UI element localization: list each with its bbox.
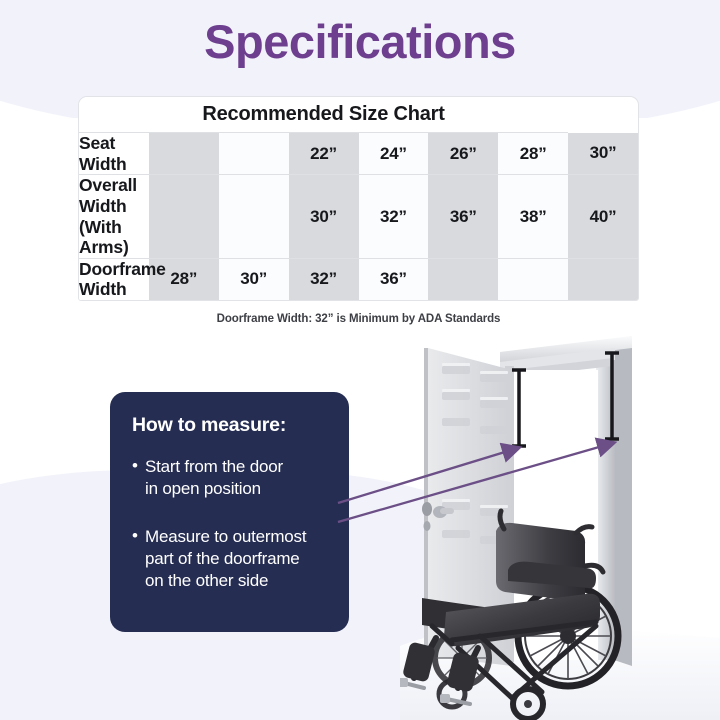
cell-overall-width-7: 40” (568, 175, 638, 259)
cell-overall-width-2 (219, 175, 289, 259)
row-label-doorframe-width-line1: Doorframe (79, 259, 149, 280)
cell-overall-width-3: 30” (289, 175, 359, 259)
size-chart-footnote: Doorframe Width: 32” is Minimum by ADA S… (78, 313, 639, 325)
row-label-doorframe-width-line2: Width (79, 279, 149, 300)
row-label-doorframe-width: Doorframe Width (79, 258, 149, 300)
table-header-row: Recommended Size Chart (79, 97, 638, 133)
cell-doorframe-width-4: 36” (359, 258, 429, 300)
cell-seat-width-1 (149, 133, 219, 175)
cell-overall-width-4: 32” (359, 175, 429, 259)
cell-doorframe-width-2: 30” (219, 258, 289, 300)
cell-overall-width-6: 38” (498, 175, 568, 259)
bullet-icon: • (132, 525, 138, 547)
row-label-overall-width: Overall Width (With Arms) (79, 175, 149, 259)
cell-seat-width-2 (219, 133, 289, 175)
row-label-overall-width-line1: Overall Width (79, 175, 149, 216)
callout-bullet-2-line2: part of the doorframe (145, 548, 329, 570)
callout-bullet-1-line1: Start from the door (145, 456, 329, 478)
illustration-wheelchair-doorway (400, 326, 720, 720)
callout-bullet-2-line3: on the other side (145, 570, 329, 592)
doorway-scene-svg (400, 326, 720, 720)
size-chart-card: Recommended Size Chart Seat Width 22” 24… (78, 96, 639, 301)
callout-bullet-1: • Start from the door in open position (132, 456, 329, 500)
cell-seat-width-3: 22” (289, 133, 359, 175)
table-row-doorframe-width: Doorframe Width 28” 30” 32” 36” (79, 258, 638, 300)
callout-heading: How to measure: (132, 414, 329, 437)
callout-bullet-2: • Measure to outermost part of the doorf… (132, 526, 329, 592)
screenshot-root: Specifications Recommended Size Chart Se… (0, 0, 720, 720)
page-title: Specifications (0, 14, 720, 69)
row-label-seat-width: Seat Width (79, 133, 149, 175)
cell-overall-width-5: 36” (428, 175, 498, 259)
cell-seat-width-6: 28” (498, 133, 568, 175)
backrest (496, 523, 585, 601)
size-chart-caption: Recommended Size Chart (79, 97, 568, 133)
cell-doorframe-width-7 (568, 258, 638, 300)
how-to-measure-callout: How to measure: • Start from the door in… (110, 392, 349, 632)
cell-doorframe-width-6 (498, 258, 568, 300)
callout-bullet-list: • Start from the door in open position •… (132, 456, 329, 592)
size-chart-table: Recommended Size Chart Seat Width 22” 24… (79, 97, 638, 300)
table-row-overall-width: Overall Width (With Arms) 30” 32” 36” 38… (79, 175, 638, 259)
cell-overall-width-1 (149, 175, 219, 259)
cell-seat-width-5: 26” (428, 133, 498, 175)
cell-doorframe-width-3: 32” (289, 258, 359, 300)
cell-seat-width-4: 24” (359, 133, 429, 175)
callout-bullet-2-line1: Measure to outermost (145, 526, 329, 548)
cell-doorframe-width-5 (428, 258, 498, 300)
cell-seat-width-7: 30” (568, 133, 638, 175)
bullet-icon: • (132, 455, 138, 477)
callout-bullet-1-line2: in open position (145, 478, 329, 500)
row-label-overall-width-line2: (With Arms) (79, 217, 149, 258)
table-row-seat-width: Seat Width 22” 24” 26” 28” 30” (79, 133, 638, 175)
